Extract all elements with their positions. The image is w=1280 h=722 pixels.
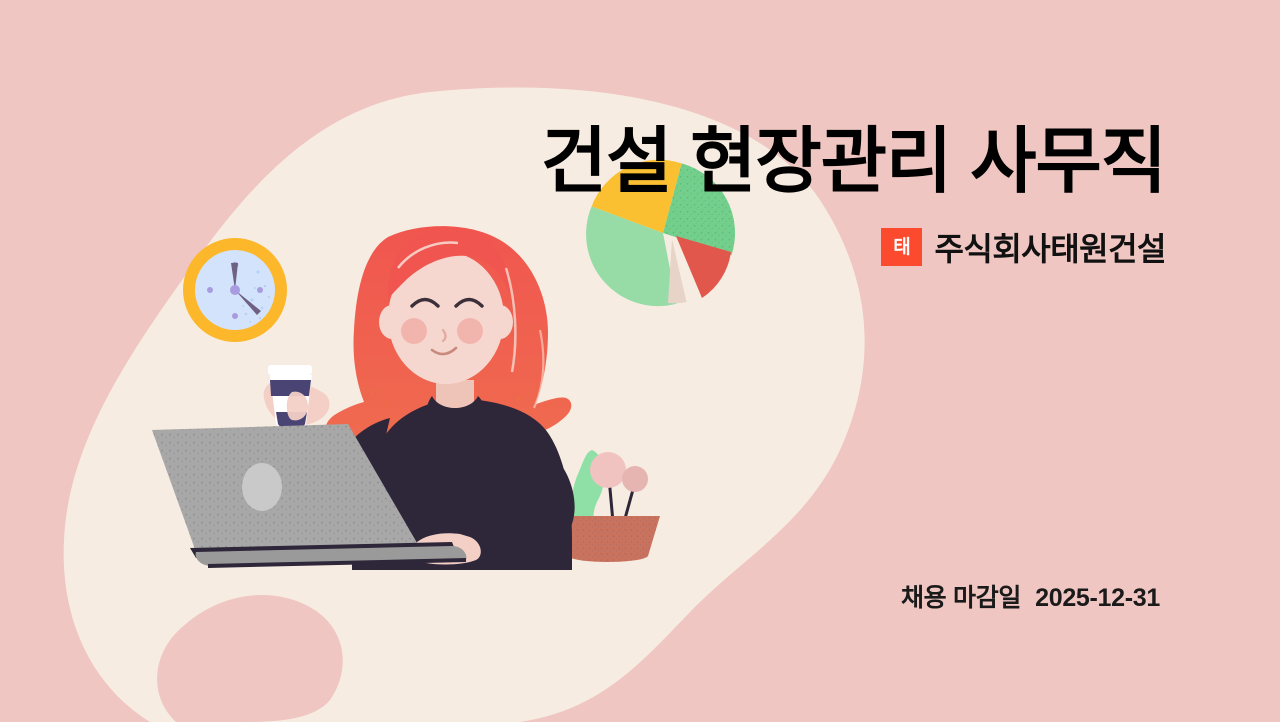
coffee-cup-icon xyxy=(268,365,312,429)
wall-clock-icon xyxy=(183,238,287,342)
illustration-layer xyxy=(0,0,1280,722)
job-posting-poster: 건설 현장관리 사무직 태 주식회사태원건설 채용 마감일2025-12-31 xyxy=(0,0,1280,722)
